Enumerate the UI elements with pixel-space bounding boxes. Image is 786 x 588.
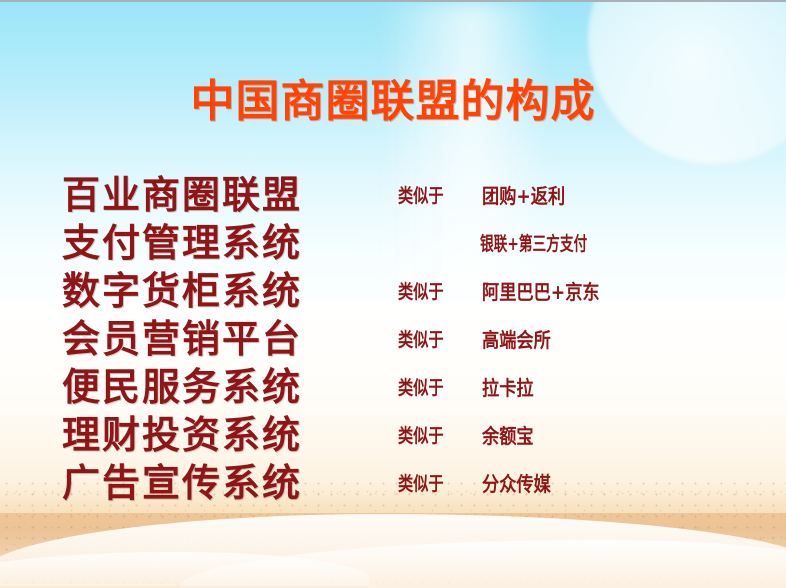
- item-analogue: 阿里巴巴+京东: [482, 270, 600, 314]
- list-item: 广告宣传系统 类似于 分众传媒: [62, 460, 762, 508]
- slide-canvas: 中国商圈联盟的构成 百业商圈联盟 类似于 团购+返利 支付管理系统 银联+第三方…: [0, 0, 786, 588]
- item-name: 会员营销平台: [62, 316, 302, 362]
- item-name: 数字货柜系统: [62, 268, 302, 314]
- item-name: 百业商圈联盟: [62, 172, 302, 218]
- slide-title: 中国商圈联盟的构成: [0, 80, 786, 124]
- list-item: 百业商圈联盟 类似于 团购+返利: [62, 172, 762, 220]
- item-analogue: 团购+返利: [482, 174, 565, 218]
- item-analogue: 分众传媒: [482, 462, 551, 506]
- composition-list: 百业商圈联盟 类似于 团购+返利 支付管理系统 银联+第三方支付 数字货柜系统 …: [62, 172, 762, 508]
- item-relation: 类似于: [398, 174, 444, 218]
- item-analogue: 银联+第三方支付: [480, 222, 587, 266]
- item-relation: 类似于: [398, 462, 444, 506]
- item-analogue: 高端会所: [482, 318, 551, 362]
- item-name: 理财投资系统: [62, 412, 302, 458]
- item-analogue: 拉卡拉: [482, 366, 534, 410]
- item-name: 便民服务系统: [62, 364, 302, 410]
- item-relation: 类似于: [398, 414, 444, 458]
- list-item: 理财投资系统 类似于 余额宝: [62, 412, 762, 460]
- list-item: 便民服务系统 类似于 拉卡拉: [62, 364, 762, 412]
- list-item: 支付管理系统 银联+第三方支付: [62, 220, 762, 268]
- item-relation: 类似于: [398, 318, 444, 362]
- item-relation: 类似于: [398, 366, 444, 410]
- item-name: 广告宣传系统: [62, 460, 302, 506]
- item-name: 支付管理系统: [62, 220, 302, 266]
- list-item: 数字货柜系统 类似于 阿里巴巴+京东: [62, 268, 762, 316]
- slide-content: 中国商圈联盟的构成 百业商圈联盟 类似于 团购+返利 支付管理系统 银联+第三方…: [0, 2, 786, 588]
- item-relation: 类似于: [398, 270, 444, 314]
- list-item: 会员营销平台 类似于 高端会所: [62, 316, 762, 364]
- item-analogue: 余额宝: [482, 414, 534, 458]
